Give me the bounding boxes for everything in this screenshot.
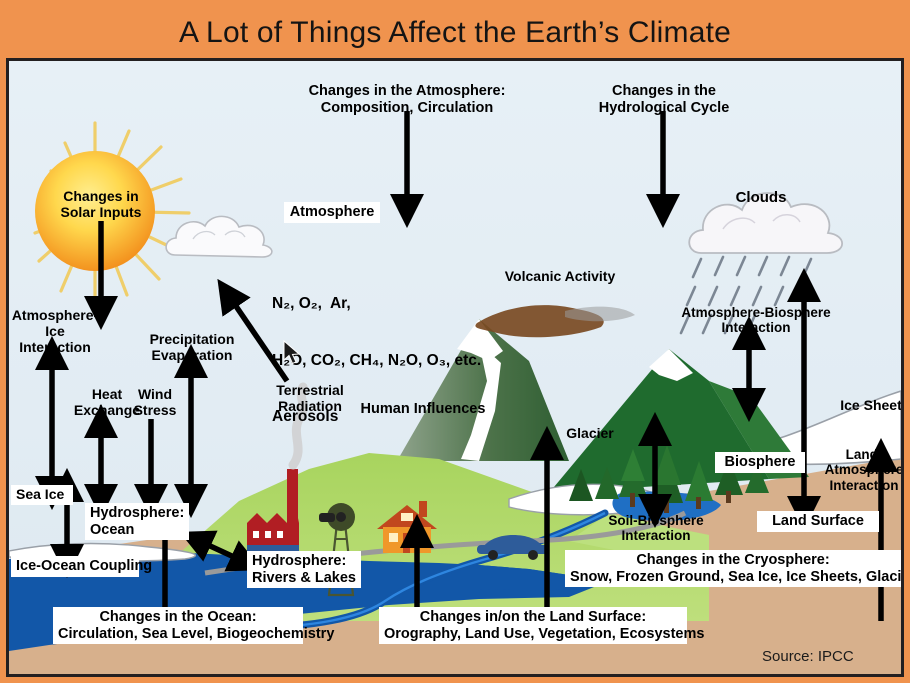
car-icon	[477, 535, 549, 560]
label-volcanic-activity: Volcanic Activity	[490, 269, 630, 285]
slide-root: A Lot of Things Affect the Earth’s Clima…	[0, 0, 910, 683]
label-atmosphere: Atmosphere	[284, 202, 380, 223]
label-glacier: Glacier	[559, 426, 621, 442]
composition-line-2: H₂O, CO₂, CH₄, N₂O, O₃, etc.	[272, 352, 532, 371]
label-human-influences: Human Influences	[356, 401, 490, 418]
mouse-cursor	[284, 341, 304, 367]
source-credit: Source: IPCC	[762, 648, 854, 665]
label-biosphere: Biosphere	[715, 452, 805, 473]
label-soil-biosphere-interaction: Soil-Biosphere Interaction	[601, 513, 711, 544]
label-land-surface: Land Surface	[757, 511, 879, 532]
house-icon	[377, 501, 437, 553]
label-hydrosphere-rivers: Hydrosphere: Rivers & Lakes	[247, 551, 361, 588]
label-land-atmosphere-interaction: Land- Atmosphere Interaction	[823, 447, 904, 493]
label-changes-hydrological: Changes in the Hydrological Cycle	[581, 83, 747, 116]
label-hydrosphere-ocean: Hydrosphere: Ocean	[85, 503, 189, 540]
label-atmosphere-ice-interaction: Atmosphere- Ice Interaction	[11, 308, 99, 356]
label-wind-stress: Wind Stress	[127, 387, 183, 419]
label-terrestrial-radiation: Terrestrial Radiation	[267, 383, 353, 415]
label-changes-atmosphere: Changes in the Atmosphere: Composition, …	[287, 83, 527, 116]
label-atmosphere-biosphere-interaction: Atmosphere-Biosphere Interaction	[675, 305, 837, 336]
label-atmosphere-composition: N₂, O₂, Ar, H₂O, CO₂, CH₄, N₂O, O₃, etc.…	[272, 257, 532, 465]
label-ice-sheet: Ice Sheet	[839, 398, 903, 414]
label-precipitation-evaporation: Precipitation Evaporation	[137, 332, 247, 364]
label-changes-cryosphere: Changes in the Cryosphere: Snow, Frozen …	[565, 550, 901, 587]
label-sea-ice: Sea Ice	[11, 485, 73, 505]
climate-diagram-canvas: Changes in Solar Inputs Changes in the A…	[9, 61, 901, 674]
label-ice-ocean-coupling: Ice-Ocean Coupling	[11, 556, 139, 577]
composition-line-1: N₂, O₂, Ar,	[272, 295, 532, 314]
page-title: A Lot of Things Affect the Earth’s Clima…	[0, 16, 910, 50]
label-changes-ocean: Changes in the Ocean: Circulation, Sea L…	[53, 607, 303, 644]
label-changes-land-surface: Changes in/on the Land Surface: Orograph…	[379, 607, 687, 644]
glacier-shape	[509, 484, 660, 514]
label-clouds: Clouds	[723, 189, 799, 206]
climate-diagram-frame: Changes in Solar Inputs Changes in the A…	[6, 58, 904, 677]
slide-header-bar: A Lot of Things Affect the Earth’s Clima…	[0, 0, 910, 58]
label-solar-inputs: Changes in Solar Inputs	[47, 189, 155, 221]
arrow-ocean-river	[195, 539, 247, 563]
cloud-small	[166, 216, 272, 257]
